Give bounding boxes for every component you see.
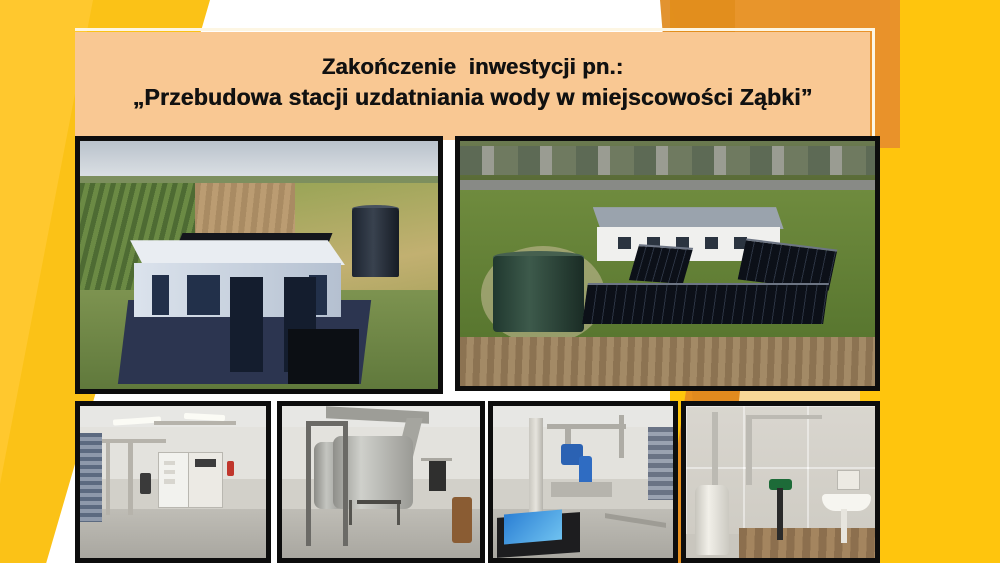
tank-brace — [357, 500, 401, 504]
pipe-riser — [128, 442, 132, 515]
ceiling-pipe — [746, 415, 822, 419]
photo-aerial-station-front — [75, 136, 443, 394]
retention-tank — [493, 256, 584, 332]
blue-packaging — [504, 510, 562, 545]
page-title-line-1: Zakończenie inwestycji pn.: — [322, 54, 623, 80]
photo-interior-pump-room — [488, 401, 678, 563]
sky — [80, 141, 438, 181]
pump-base — [551, 482, 612, 497]
pipe-riser — [106, 442, 110, 515]
wood-floor — [739, 528, 875, 558]
eyewash-post — [777, 488, 784, 540]
tank-leg — [349, 500, 352, 524]
solar-array-small — [629, 244, 693, 284]
window — [152, 275, 170, 315]
pipe-ceiling — [154, 421, 236, 424]
support-frame-top — [306, 421, 346, 426]
excavation-pit — [288, 329, 360, 384]
slide-title-panel: Zakończenie inwestycji pn.: „Przebudowa … — [75, 32, 870, 140]
door — [230, 277, 262, 371]
background-shape-right-edge — [860, 0, 1000, 563]
floor — [80, 509, 266, 558]
cabinet-label — [164, 470, 175, 475]
basin-pedestal — [841, 509, 847, 542]
photo-aerial-station-solar — [455, 136, 880, 391]
ploughed-foreground — [460, 337, 875, 386]
pipe — [102, 439, 165, 443]
support-frame — [343, 421, 348, 546]
fire-extinguisher — [227, 461, 234, 476]
photo-interior-control-panels — [75, 401, 271, 563]
solar-array-main — [582, 283, 828, 324]
office-chair — [140, 473, 151, 494]
equipment-cabinet — [429, 461, 447, 491]
water-tank — [352, 208, 399, 277]
cabinet-display — [195, 459, 215, 467]
photo-interior-sanitary-room — [681, 401, 880, 563]
window — [618, 237, 631, 249]
photo-collage — [75, 136, 880, 563]
pipe-manifold — [648, 427, 673, 500]
barrel — [452, 497, 472, 543]
building-roof — [130, 240, 345, 265]
tank-leg — [397, 500, 400, 524]
soap-dispenser — [837, 470, 860, 490]
washbasin — [822, 494, 871, 511]
support-frame — [306, 421, 311, 546]
wall-pipe — [712, 412, 718, 494]
pipe-manifold — [80, 433, 102, 521]
houses-row — [460, 146, 875, 175]
presentation-slide: Zakończenie inwestycji pn.: „Przebudowa … — [0, 0, 1000, 563]
cabinet-label — [164, 461, 175, 466]
photo-interior-filter-tanks — [277, 401, 485, 563]
water-heater — [695, 485, 729, 555]
wall-pipe — [746, 415, 752, 485]
cabinet-label — [164, 479, 175, 484]
page-title-line-2: „Przebudowa stacji uzdatniania wody w mi… — [133, 84, 813, 111]
window — [187, 275, 219, 315]
pipe-riser — [619, 415, 624, 458]
ceiling-pipe — [547, 424, 626, 429]
window — [705, 237, 718, 249]
floor — [282, 509, 480, 558]
